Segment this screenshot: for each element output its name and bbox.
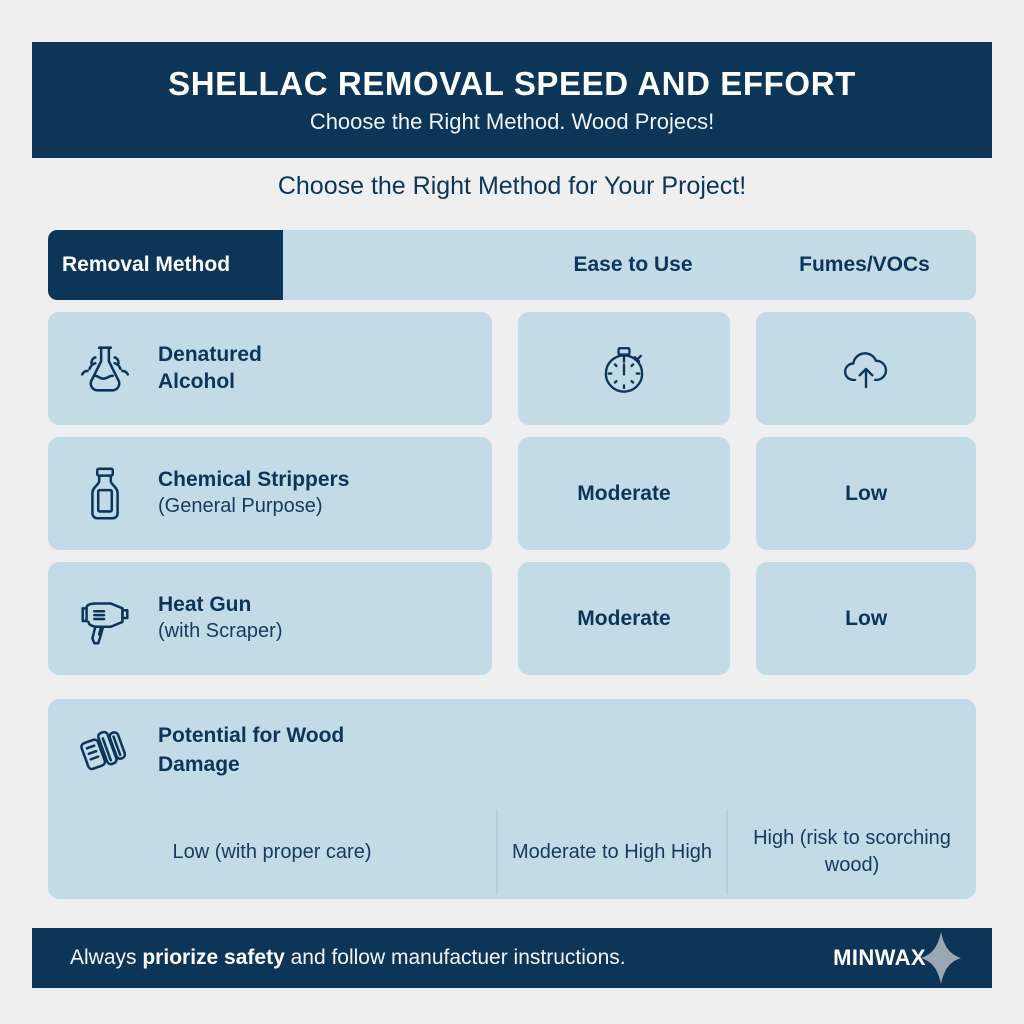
fumes-cell-denatured-alcohol xyxy=(756,312,976,425)
brand-logo: MINWAX xyxy=(833,932,962,984)
wood-damage-value-ease: Moderate to High High xyxy=(496,809,726,895)
page-subtitle: Choose the Right Method for Your Project… xyxy=(0,172,1024,201)
footer-text-after: and follow manufactuer instructions. xyxy=(285,946,626,969)
fumes-cell-chemical-strippers: Low xyxy=(756,437,976,550)
method-cell-heat-gun: Heat Gun (with Scraper) xyxy=(48,562,492,675)
footer-bar: Always priorize safety and follow manufa… xyxy=(32,928,992,988)
column-header-removal-method: Removal Method xyxy=(48,230,283,300)
header-subtitle: Choose the Right Method. Wood Projecs! xyxy=(310,109,714,134)
column-header-fumes-vocs: Fumes/VOCs xyxy=(753,230,976,300)
header-banner: SHELLAC REMOVAL SPEED AND EFFORT Choose … xyxy=(32,42,992,158)
diamond-icon xyxy=(920,932,962,984)
ease-cell-chemical-strippers: Moderate xyxy=(518,437,731,550)
footer-message: Always priorize safety and follow manufa… xyxy=(70,946,626,970)
column-header-ease-to-use: Ease to Use xyxy=(525,230,741,300)
infographic-page: SHELLAC REMOVAL SPEED AND EFFORT Choose … xyxy=(0,0,1024,1024)
wood-damage-values: Low (with proper care) Moderate to High … xyxy=(48,809,976,895)
wood-damage-value-fumes: High (risk to scorching wood) xyxy=(726,809,976,895)
brand-wordmark: MINWAX xyxy=(833,945,926,971)
method-cell-chemical-strippers: Chemical Strippers (General Purpose) xyxy=(48,437,492,550)
cloud-upload-icon xyxy=(837,340,895,398)
method-cell-denatured-alcohol: Denatured Alcohol xyxy=(48,312,492,425)
table-header-row: Removal Method Ease to Use Fumes/VOCs xyxy=(48,230,976,300)
footer-text-bold: priorize safety xyxy=(142,946,284,969)
method-name-line2: Alcohol xyxy=(158,369,262,396)
heat-gun-icon xyxy=(74,588,136,650)
fumes-cell-heat-gun: Low xyxy=(756,562,976,675)
wood-damage-value-method: Low (with proper care) xyxy=(48,809,496,895)
ease-value: Moderate xyxy=(577,607,670,631)
method-note: (General Purpose) xyxy=(158,494,349,520)
method-note: (with Scraper) xyxy=(158,619,282,645)
ease-cell-denatured-alcohol xyxy=(518,312,731,425)
footer-text-before: Always xyxy=(70,946,142,969)
column-header-removal-method-label: Removal Method xyxy=(62,253,230,277)
wood-damage-title: Potential for Wood Damage xyxy=(158,721,418,780)
bottle-icon xyxy=(74,463,136,525)
fumes-value: Low xyxy=(845,607,887,631)
flask-icon xyxy=(74,338,136,400)
table-row: Denatured Alcohol xyxy=(48,312,976,425)
method-name: Denatured xyxy=(158,342,262,369)
method-label-group: Chemical Strippers (General Purpose) xyxy=(158,467,349,519)
page-title: SHELLAC REMOVAL SPEED AND EFFORT xyxy=(168,66,856,102)
method-name: Heat Gun xyxy=(158,592,282,619)
ease-cell-heat-gun: Moderate xyxy=(518,562,731,675)
table-row: Heat Gun (with Scraper) Moderate Low xyxy=(48,562,976,675)
stopwatch-icon xyxy=(595,340,653,398)
ease-value: Moderate xyxy=(577,482,670,506)
method-label-group: Denatured Alcohol xyxy=(158,342,262,396)
wood-damage-header: Potential for Wood Damage xyxy=(74,719,418,781)
wood-damage-panel: Potential for Wood Damage Low (with prop… xyxy=(48,699,976,899)
method-label-group: Heat Gun (with Scraper) xyxy=(158,592,282,644)
method-name: Chemical Strippers xyxy=(158,467,349,494)
table-row: Chemical Strippers (General Purpose) Mod… xyxy=(48,437,976,550)
wood-planks-icon xyxy=(74,719,136,781)
comparison-table: Removal Method Ease to Use Fumes/VOCs xyxy=(48,230,976,899)
fumes-value: Low xyxy=(845,482,887,506)
